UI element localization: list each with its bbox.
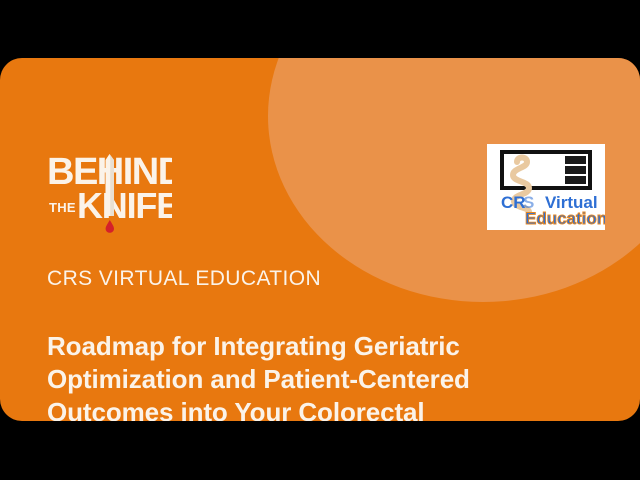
knife-blade-icon xyxy=(106,154,115,216)
logo-text-the: THE xyxy=(49,200,76,215)
slide-title-line-3: Outcomes into Your Colorectal xyxy=(47,396,567,421)
video-letterbox-frame: BEHIND THE KNIFE xyxy=(0,0,640,480)
slide-kicker: CRS VIRTUAL EDUCATION xyxy=(47,267,321,291)
slide-title-line-1: Roadmap for Integrating Geriatric xyxy=(47,330,567,363)
behind-the-knife-logo: BEHIND THE KNIFE xyxy=(47,146,172,234)
logo-text-knife: KNIFE xyxy=(77,185,172,226)
slide-card: BEHIND THE KNIFE xyxy=(0,58,640,421)
badge-text-education: Education xyxy=(525,209,605,228)
slide-title-line-2: Optimization and Patient-Centered xyxy=(47,363,567,396)
crs-virtual-education-badge: CR S Virtual Education xyxy=(487,144,605,230)
badge-text-cr: CR xyxy=(501,193,526,212)
slide-title: Roadmap for Integrating Geriatric Optimi… xyxy=(47,330,567,421)
